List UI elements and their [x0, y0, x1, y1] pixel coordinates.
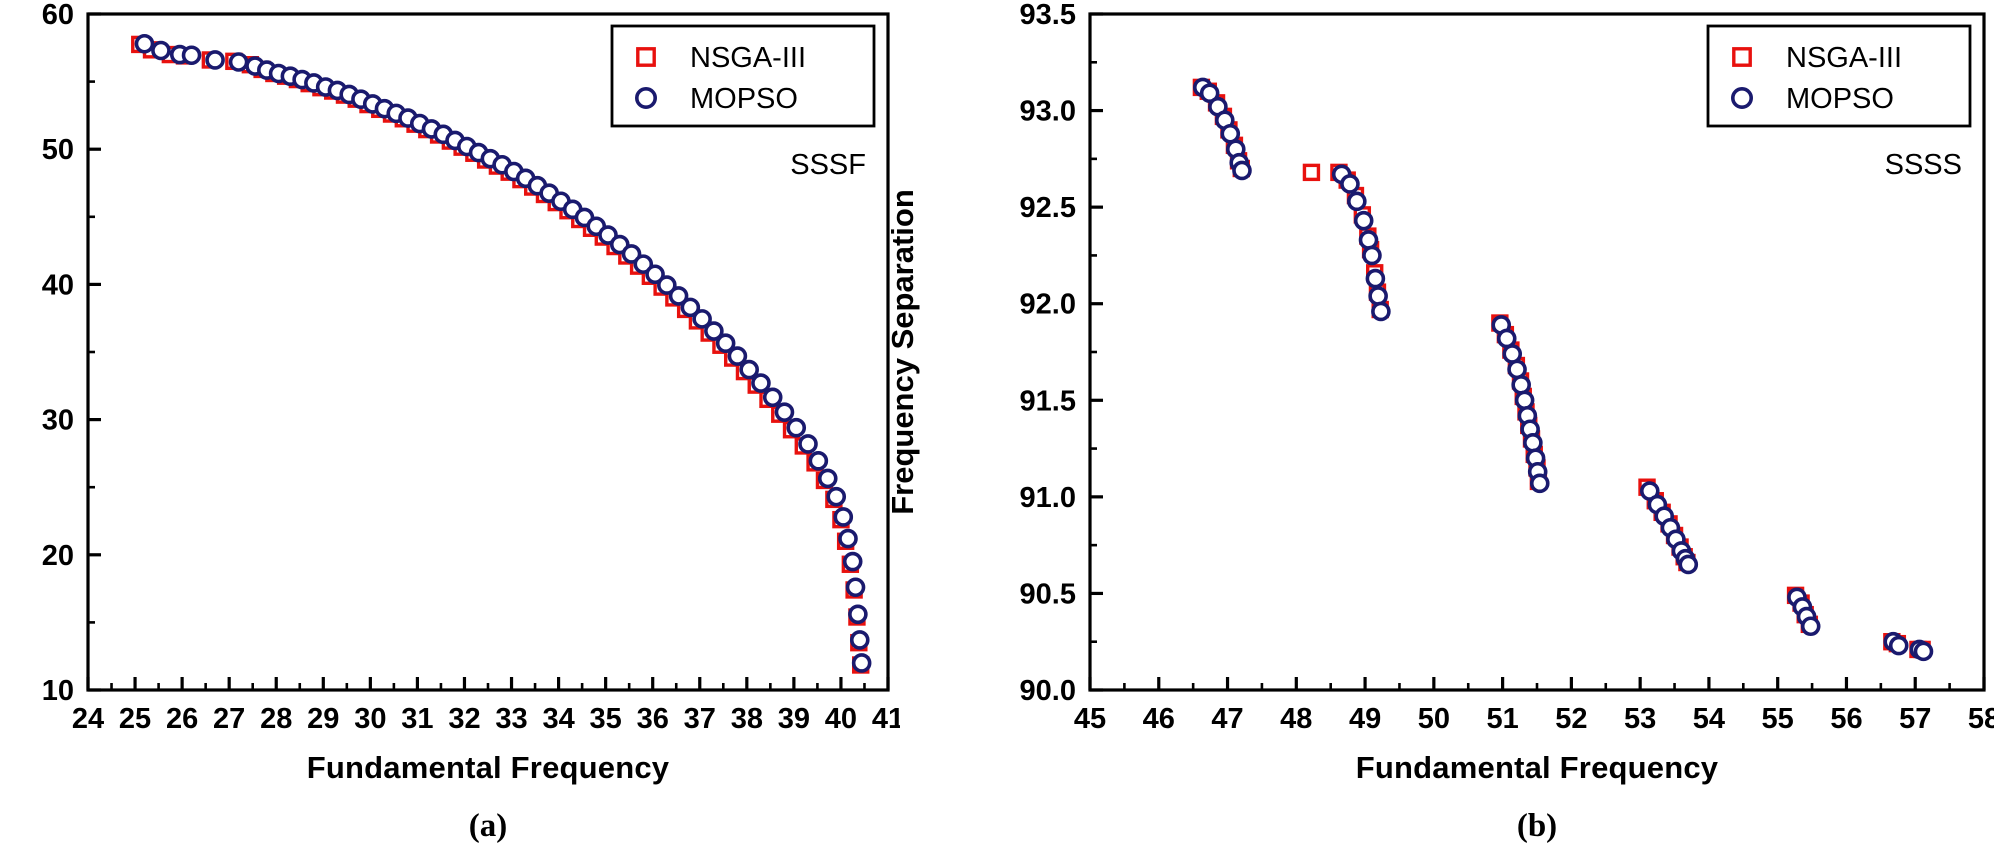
data-point-circle [765, 389, 781, 405]
x-tick-label: 32 [448, 703, 480, 735]
x-tick-label: 28 [260, 703, 292, 735]
x-tick-label: 31 [401, 703, 433, 735]
x-tick-label: 50 [1418, 703, 1450, 735]
x-tick-label: 49 [1349, 703, 1381, 735]
subfigure-label-b: (b) [1517, 808, 1557, 845]
y-tick-label: 10 [42, 675, 74, 707]
x-tick-label: 57 [1899, 703, 1931, 735]
data-point-circle [835, 509, 851, 525]
plot-area-a[interactable]: 2425262728293031323334353637383940411020… [0, 0, 900, 760]
data-point-circle [136, 36, 152, 52]
data-point-circle [852, 632, 868, 648]
corner-annotation-b: SSSS [1885, 149, 1962, 181]
y-tick-label: 91.0 [1020, 482, 1076, 514]
corner-annotation-a: SSSF [790, 149, 866, 181]
x-tick-label: 36 [637, 703, 669, 735]
x-tick-label: 35 [590, 703, 622, 735]
data-point-circle [1222, 126, 1238, 142]
x-tick-label: 40 [825, 703, 857, 735]
x-tick-label: 54 [1693, 703, 1725, 735]
data-point-circle [828, 489, 844, 505]
legend[interactable]: NSGA-IIIMOPSO [1708, 26, 1970, 126]
x-tick-label: 55 [1762, 703, 1794, 735]
x-tick-label: 25 [119, 703, 151, 735]
data-point-circle [1367, 271, 1383, 287]
data-point-circle [845, 554, 861, 570]
legend-marker-square [1734, 49, 1750, 65]
data-point-circle [1532, 475, 1548, 491]
y-tick-label: 50 [42, 134, 74, 166]
x-tick-label: 24 [72, 703, 104, 735]
y-tick-label: 92.0 [1020, 289, 1076, 321]
subfigure-label-a: (a) [469, 808, 507, 845]
data-point-circle [741, 362, 757, 378]
x-tick-label: 38 [731, 703, 763, 735]
y-tick-label: 60 [42, 0, 74, 31]
y-axis-title-b: Frequency Separation [885, 189, 921, 515]
x-tick-label: 46 [1143, 703, 1175, 735]
y-tick-label: 93.5 [1020, 0, 1076, 31]
legend-marker-square [638, 49, 654, 65]
data-point-circle [1342, 176, 1358, 192]
y-tick-label: 90.0 [1020, 675, 1076, 707]
data-point-circle [207, 52, 223, 68]
data-point-circle [848, 579, 864, 595]
x-tick-label: 30 [354, 703, 386, 735]
data-point-circle [1370, 288, 1386, 304]
x-tick-label: 41 [872, 703, 900, 735]
data-point-circle [1499, 330, 1515, 346]
data-point-circle [1680, 556, 1696, 572]
x-tick-label: 56 [1830, 703, 1862, 735]
data-point-circle [820, 470, 836, 486]
data-point-circle [1356, 213, 1372, 229]
x-axis-title-b: Fundamental Frequency [1356, 750, 1719, 786]
legend[interactable]: NSGA-IIIMOPSO [612, 26, 874, 126]
panel-b: 454647484950515253545556575890.090.591.0… [940, 0, 1994, 861]
panel-a: 2425262728293031323334353637383940411020… [0, 0, 900, 861]
legend-label-mopso: MOPSO [1786, 83, 1894, 115]
plot-area-b[interactable]: 454647484950515253545556575890.090.591.0… [940, 0, 1994, 760]
data-point-circle [854, 655, 870, 671]
x-tick-label: 58 [1968, 703, 1994, 735]
x-tick-label: 27 [213, 703, 245, 735]
legend-marker-circle [637, 89, 655, 107]
data-point-circle [1349, 193, 1365, 209]
x-tick-label: 45 [1074, 703, 1106, 735]
legend-marker-circle [1733, 89, 1751, 107]
y-tick-label: 20 [42, 540, 74, 572]
data-point-circle [1373, 303, 1389, 319]
data-point-circle [753, 375, 769, 391]
data-point-circle [1513, 377, 1529, 393]
data-point-circle [776, 404, 792, 420]
data-point-circle [184, 47, 200, 63]
data-point-circle [1361, 232, 1377, 248]
y-tick-label: 40 [42, 269, 74, 301]
data-point-circle [1509, 361, 1525, 377]
y-tick-label: 92.5 [1020, 192, 1076, 224]
x-tick-label: 29 [307, 703, 339, 735]
x-tick-label: 51 [1486, 703, 1518, 735]
data-point-circle [1803, 618, 1819, 634]
data-point-circle [1234, 162, 1250, 178]
data-point-circle [1525, 435, 1541, 451]
y-tick-label: 93.0 [1020, 96, 1076, 128]
x-tick-label: 26 [166, 703, 198, 735]
data-point-circle [840, 531, 856, 547]
x-tick-label: 53 [1624, 703, 1656, 735]
legend-label-mopso: MOPSO [690, 83, 798, 115]
x-tick-label: 37 [684, 703, 716, 735]
data-point-circle [1517, 392, 1533, 408]
x-tick-label: 47 [1211, 703, 1243, 735]
data-point-circle [1504, 346, 1520, 362]
data-point-circle [231, 54, 247, 70]
data-point-circle [810, 453, 826, 469]
data-point-circle [1891, 638, 1907, 654]
x-axis-title-a: Fundamental Frequency [307, 750, 670, 786]
x-tick-label: 34 [542, 703, 574, 735]
data-point-circle [1364, 247, 1380, 263]
x-tick-label: 39 [778, 703, 810, 735]
x-tick-label: 52 [1555, 703, 1587, 735]
legend-label-nsga-iii: NSGA-III [1786, 42, 1902, 74]
x-tick-label: 33 [495, 703, 527, 735]
data-point-circle [153, 43, 169, 59]
data-point-circle [850, 606, 866, 622]
x-tick-label: 48 [1280, 703, 1312, 735]
legend-label-nsga-iii: NSGA-III [690, 42, 806, 74]
y-tick-label: 91.5 [1020, 385, 1076, 417]
data-point-circle [729, 348, 745, 364]
y-tick-label: 90.5 [1020, 578, 1076, 610]
figure-root: 2425262728293031323334353637383940411020… [0, 0, 1994, 861]
data-point-circle [1915, 643, 1931, 659]
data-point-circle [800, 436, 816, 452]
y-tick-label: 30 [42, 405, 74, 437]
data-point-circle [788, 420, 804, 436]
data-point-square [1304, 165, 1318, 179]
